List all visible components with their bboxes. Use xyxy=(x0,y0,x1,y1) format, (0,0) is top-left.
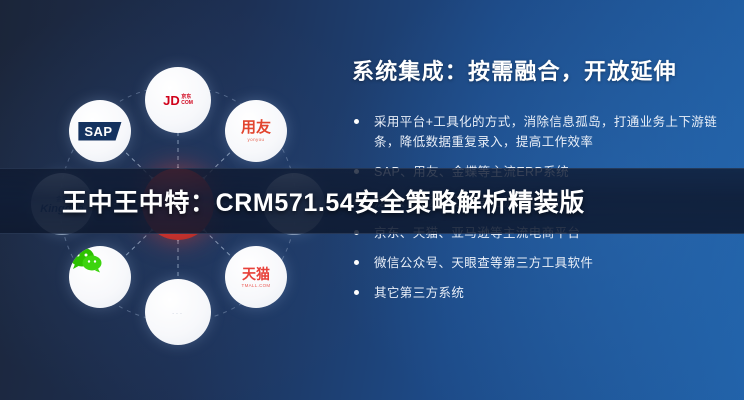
tmall-logo-icon: 天猫 xyxy=(242,267,270,281)
diagram-node-sap: SAP xyxy=(69,100,131,162)
tmall-logo-subtext: TMALL.COM xyxy=(242,283,271,288)
jd-logo-subtext: 京东COM xyxy=(181,95,193,107)
sap-logo-icon: SAP xyxy=(78,122,121,141)
overlay-banner-text: 王中王中特：CRM571.54安全策略解析精装版 xyxy=(0,183,585,219)
bullet-dot-icon xyxy=(354,260,359,265)
slide-canvas: JD 京东COM 用友 yonyou SAP 天猫 TMALL.COM 金蝶 K… xyxy=(0,0,744,400)
yonyou-logo-subtext: yonyou xyxy=(248,137,265,142)
slide-heading: 系统集成：按需融合，开放延伸 xyxy=(352,58,724,86)
diagram-node-yonyou: 用友 yonyou xyxy=(225,100,287,162)
jd-logo-text: JD xyxy=(163,94,180,107)
bullet-item: 采用平台+工具化的方式，消除信息孤岛，打通业务上下游链条，降低数据重复录入，提高… xyxy=(352,112,724,153)
bullet-dot-icon xyxy=(354,290,359,295)
diagram-node-other: ... xyxy=(145,279,211,345)
bullet-dot-icon xyxy=(354,119,359,124)
overlay-banner: 王中王中特：CRM571.54安全策略解析精装版 xyxy=(0,168,744,234)
diagram-node-jd: JD 京东COM xyxy=(145,67,211,133)
diagram-node-tmall: 天猫 TMALL.COM xyxy=(225,246,287,308)
jd-logo-icon: JD 京东COM xyxy=(163,94,193,107)
bullet-text: 微信公众号、天眼查等第三方工具软件 xyxy=(374,256,593,270)
diagram-node-wechat xyxy=(69,246,131,308)
bullet-text: 采用平台+工具化的方式，消除信息孤岛，打通业务上下游链条，降低数据重复录入，提高… xyxy=(374,115,717,149)
bullet-item: 其它第三方系统 xyxy=(352,283,724,303)
wechat-icon xyxy=(69,246,103,274)
bullet-text: 其它第三方系统 xyxy=(374,286,464,300)
yonyou-logo-icon: 用友 xyxy=(241,120,271,135)
other-logo-icon: ... xyxy=(172,309,184,316)
bullet-item: 微信公众号、天眼查等第三方工具软件 xyxy=(352,253,724,273)
